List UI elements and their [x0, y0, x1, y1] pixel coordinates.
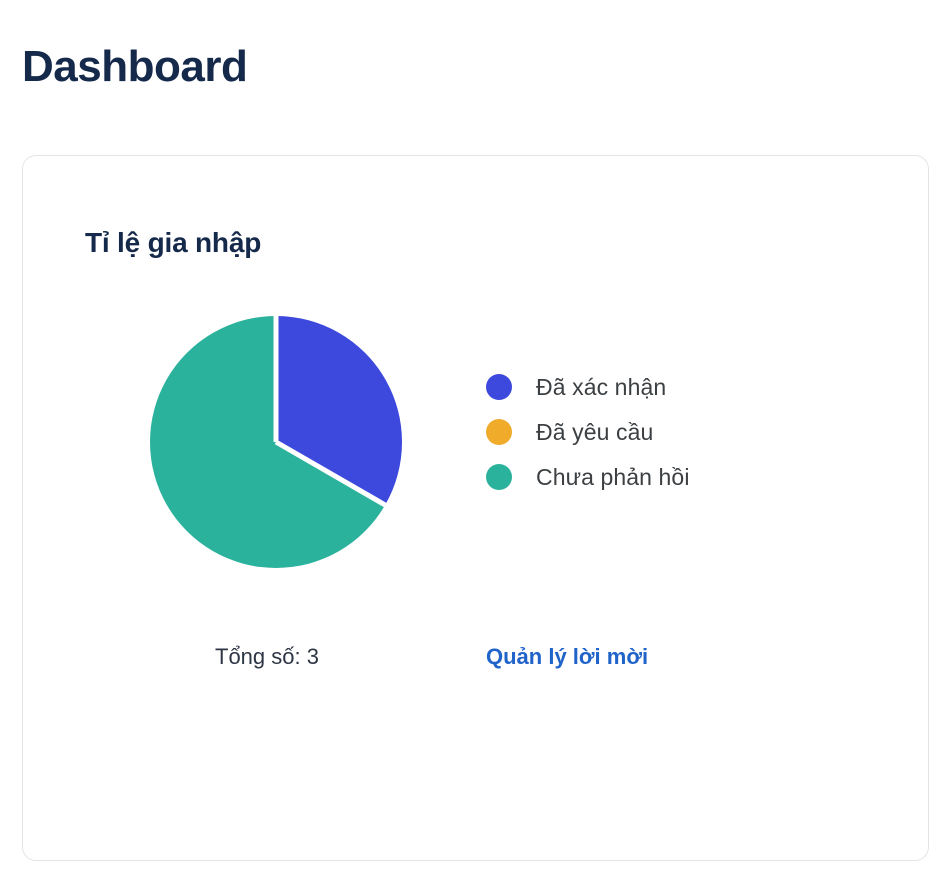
page-title: Dashboard [22, 42, 247, 93]
legend-item-da-yeu-cau[interactable]: Đã yêu cầu [486, 419, 690, 445]
onboarding-rate-card: Tỉ lệ gia nhập Đã xác nhận Đã yêu cầu [22, 155, 929, 861]
legend-swatch-icon-da-yeu-cau [486, 419, 512, 445]
legend-label-chua-phan-hoi: Chưa phản hồi [536, 466, 690, 489]
manage-invitations-link[interactable]: Quản lý lời mời [486, 644, 648, 670]
total-count-label: Tổng số: 3 [215, 644, 319, 670]
legend-label-da-xac-nhan: Đã xác nhận [536, 376, 666, 399]
pie-chart: Đã xác nhận Đã yêu cầu Chưa phản hồi Tổn… [23, 156, 930, 862]
legend-item-chua-phan-hoi[interactable]: Chưa phản hồi [486, 464, 690, 490]
legend-swatch-icon-chua-phan-hoi [486, 464, 512, 490]
pie-chart-graphic [148, 314, 404, 570]
legend-item-da-xac-nhan[interactable]: Đã xác nhận [486, 374, 690, 400]
legend-swatch-icon-da-xac-nhan [486, 374, 512, 400]
chart-legend: Đã xác nhận Đã yêu cầu Chưa phản hồi [486, 374, 690, 490]
legend-label-da-yeu-cau: Đã yêu cầu [536, 421, 653, 444]
